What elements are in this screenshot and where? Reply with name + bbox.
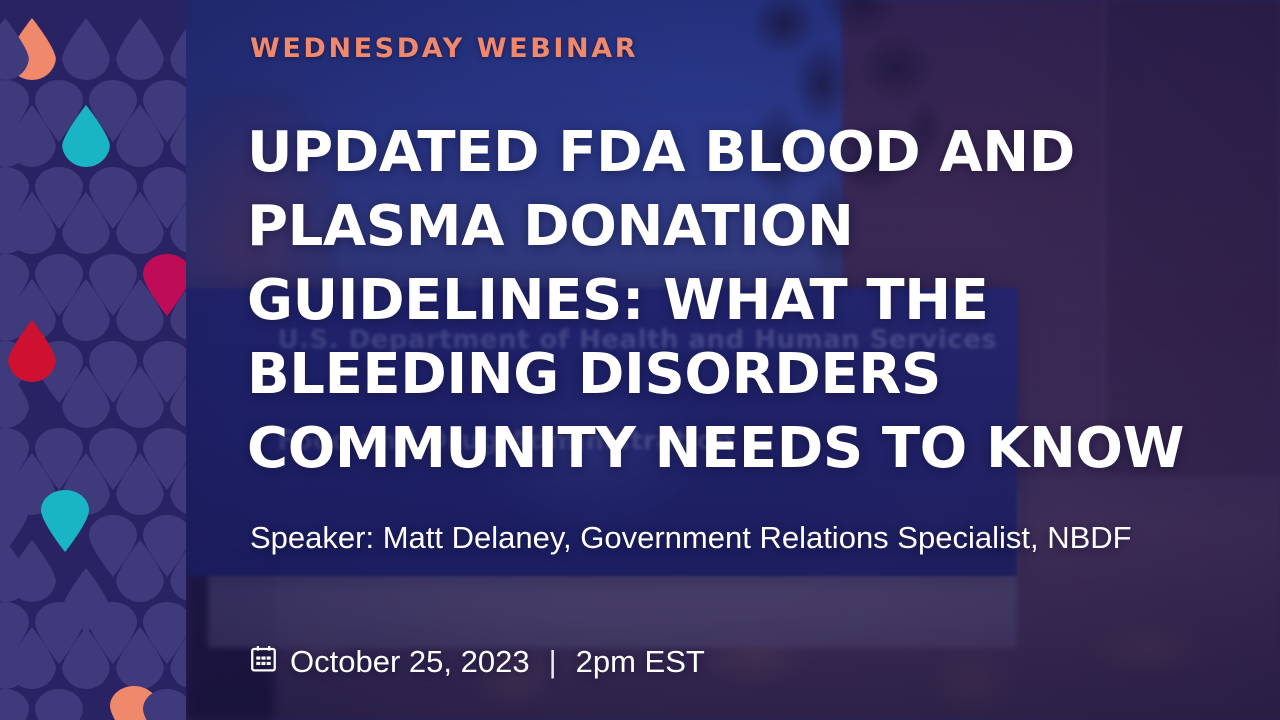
droplet-teal	[41, 490, 89, 552]
droplet-pattern-sidebar	[0, 0, 186, 720]
droplet-muted	[0, 689, 29, 720]
date-separator: |	[543, 644, 563, 680]
speaker-line: Speaker: Matt Delaney, Government Relati…	[250, 520, 1230, 556]
droplet-muted	[62, 18, 110, 80]
slide-content: WEDNESDAY WEBINAR UPDATED FDA BLOOD AND …	[250, 0, 1210, 720]
date-time-bar: October 25, 2023 | 2pm EST	[250, 644, 705, 680]
droplet-muted	[170, 18, 186, 80]
droplet-muted	[116, 18, 164, 80]
webinar-promo-slide: U.S. Department of Health and Human Serv…	[0, 0, 1280, 720]
event-date: October 25, 2023	[290, 644, 530, 680]
droplet-muted	[35, 689, 83, 720]
event-time: 2pm EST	[576, 644, 705, 680]
page-title: UPDATED FDA BLOOD AND PLASMA DONATION GU…	[247, 116, 1207, 486]
calendar-icon	[250, 644, 277, 680]
eyebrow-label: WEDNESDAY WEBINAR	[250, 33, 638, 64]
